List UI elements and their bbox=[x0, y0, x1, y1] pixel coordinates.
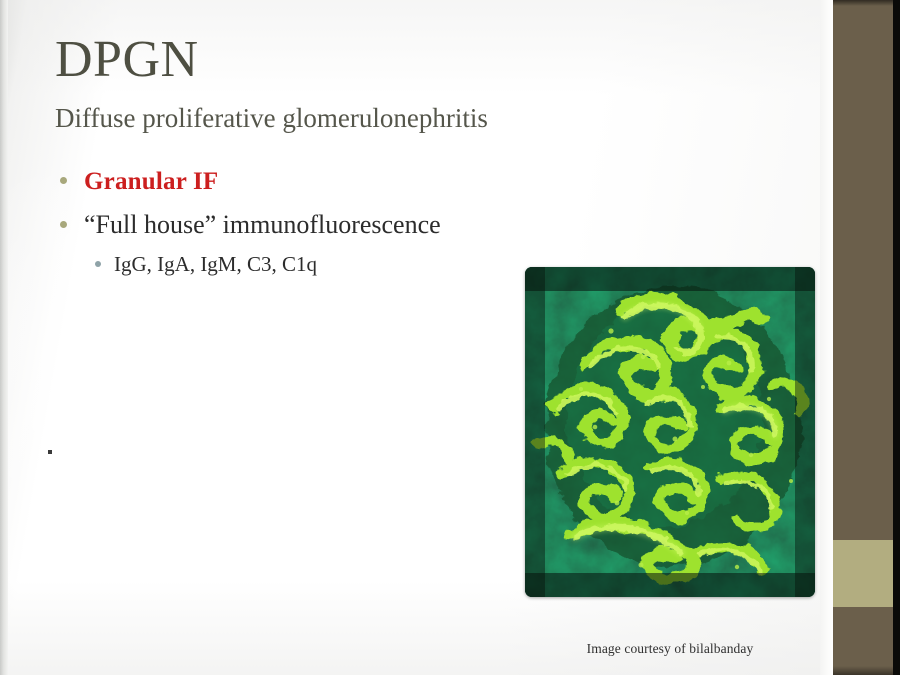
decor-band-top-shadow bbox=[833, 0, 893, 6]
slide-left-edge bbox=[0, 0, 8, 675]
bullet-label: “Full house” immunofluorescence bbox=[84, 210, 441, 240]
sub-bullet-dot-icon bbox=[95, 261, 101, 267]
bullet-item-granular-if: Granular IF bbox=[60, 168, 218, 196]
bullet-dot-icon bbox=[60, 177, 67, 184]
slide-canvas: DPGN Diffuse proliferative glomeruloneph… bbox=[0, 0, 900, 675]
immunofluorescence-image bbox=[525, 267, 815, 597]
decor-band-bottom-shadow bbox=[833, 666, 893, 675]
immunofluorescence-graphic bbox=[525, 267, 815, 597]
bullet-item-immune-deposits: IgG, IgA, IgM, C3, C1q bbox=[95, 252, 317, 277]
decor-band-gap bbox=[820, 0, 833, 675]
decor-band-dark-edge bbox=[893, 0, 900, 675]
slide-title: DPGN bbox=[55, 34, 199, 86]
bullet-dot-icon bbox=[60, 221, 67, 228]
decor-band-khaki bbox=[833, 540, 893, 607]
bullet-item-full-house: “Full house” immunofluorescence bbox=[60, 210, 441, 240]
figure-caption: Image courtesy of bilalbanday bbox=[525, 641, 815, 657]
stray-punctuation-mark bbox=[48, 450, 52, 454]
sub-bullet-label: IgG, IgA, IgM, C3, C1q bbox=[114, 252, 317, 277]
bullet-label: Granular IF bbox=[84, 168, 218, 196]
slide-subtitle: Diffuse proliferative glomerulonephritis bbox=[55, 104, 488, 134]
